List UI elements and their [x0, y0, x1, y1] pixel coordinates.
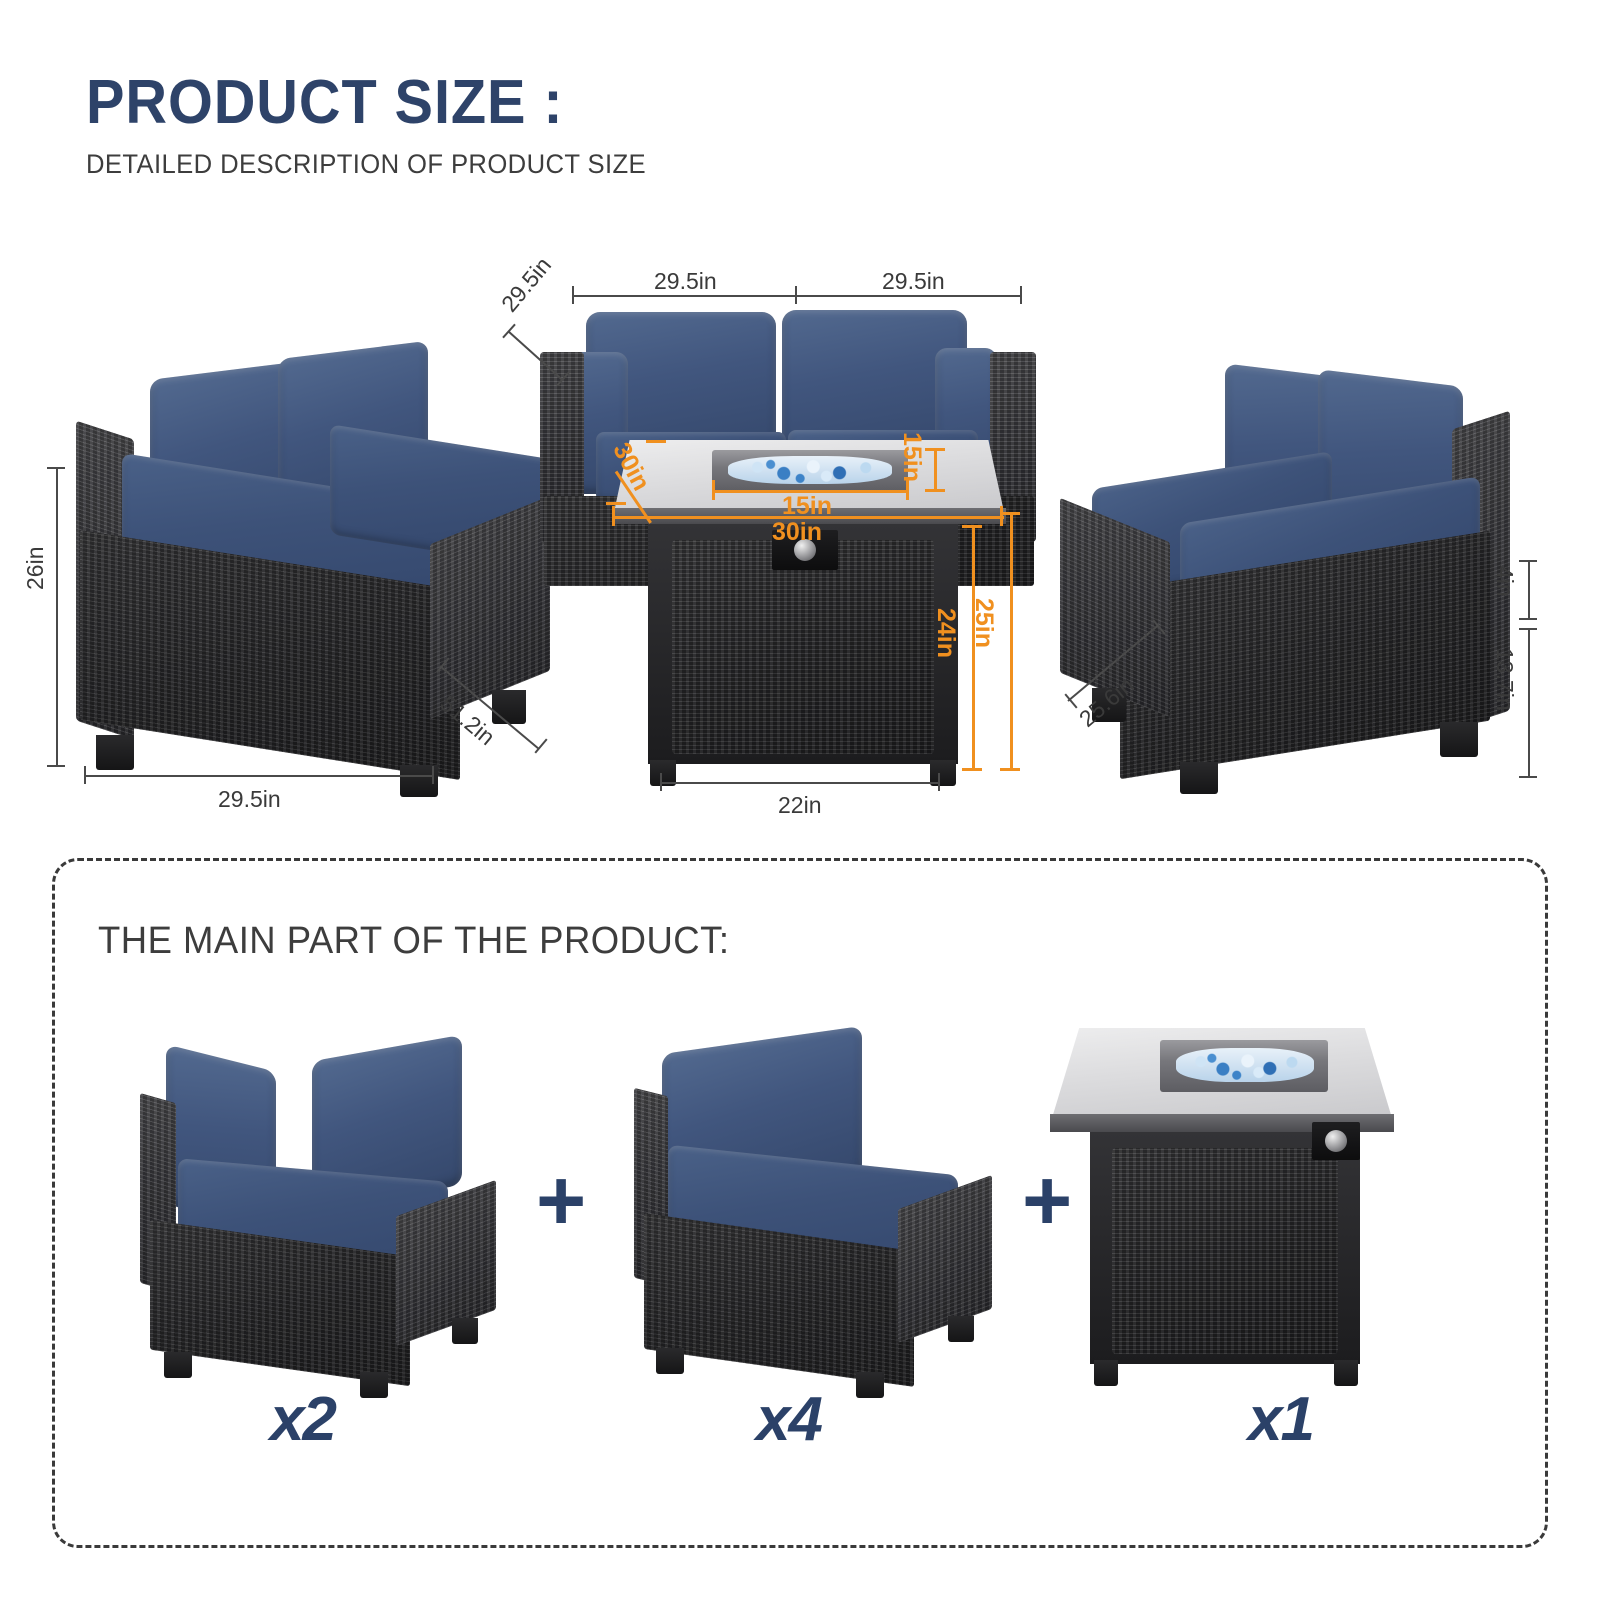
center-top-cap-m [795, 286, 797, 304]
tabletop-width-cap-r [1000, 506, 1003, 526]
product-size-infographic: PRODUCT SIZE : DETAILED DESCRIPTION OF P… [0, 0, 1600, 1600]
left-leg-3 [492, 690, 526, 724]
table-base-label: 22in [778, 792, 821, 819]
table-h-inner-cap-t [962, 525, 982, 528]
page-title: PRODUCT SIZE : [86, 70, 634, 135]
fire-table-qty: x1 [1248, 1384, 1313, 1455]
left-height-cap-bottom [47, 765, 65, 767]
center-width-left-label: 29.5in [654, 268, 717, 295]
right-frame-label: 13.7in [1491, 648, 1518, 711]
left-height-rule [56, 467, 58, 767]
plus-separator-1: + [536, 1158, 586, 1244]
center-width-right-label: 29.5in [882, 268, 945, 295]
firepit-depth-rule [934, 448, 937, 492]
right-cushion-label: 4in [1491, 566, 1518, 597]
left-leg-1 [96, 735, 134, 770]
center-top-cap-l [572, 286, 574, 304]
right-cushion-cap-b [1519, 618, 1537, 620]
part-table-leg-1 [1094, 1360, 1118, 1386]
firepit-depth-label: 15in [897, 432, 926, 482]
table-h-outer-cap-b [1000, 768, 1020, 771]
table-height-inner-label: 24in [931, 608, 960, 658]
page-subtitle: DETAILED DESCRIPTION OF PRODUCT SIZE [86, 149, 646, 180]
left-height-label: 26in [22, 547, 49, 590]
header: PRODUCT SIZE : DETAILED DESCRIPTION OF P… [86, 70, 675, 180]
center-top-cap-r [1020, 286, 1022, 304]
firepit-width-cap-l [712, 480, 715, 500]
part-table-knob[interactable] [1312, 1122, 1360, 1160]
right-frame-cap-t [1519, 628, 1537, 630]
firepit-depth-cap-t [925, 448, 945, 451]
table-base-cap-r [938, 773, 940, 791]
armless-leg-1 [656, 1348, 684, 1374]
right-frame-rule [1528, 628, 1530, 778]
table-height-outer-rule [1010, 512, 1013, 770]
firetable-wicker-panel [672, 540, 934, 754]
right-cushion-rule [1528, 560, 1530, 620]
plus-separator-2: + [1022, 1158, 1072, 1244]
right-frame-cap-b [1519, 776, 1537, 778]
left-width-label: 29.5in [218, 786, 281, 813]
tabletop-width-cap-l [612, 506, 615, 526]
table-h-inner-cap-b [962, 768, 982, 771]
left-width-cap-r [432, 766, 434, 784]
table-base-cap-l [660, 773, 662, 791]
firepit-width-cap-r [906, 480, 909, 500]
corner-leg-2 [360, 1372, 388, 1398]
firepit-depth-cap-b [925, 489, 945, 492]
right-leg-3 [1440, 722, 1478, 757]
armless-sofa-qty: x4 [756, 1384, 821, 1455]
part-table-wicker [1112, 1148, 1338, 1354]
corner-leg-3 [452, 1318, 478, 1344]
table-h-outer-cap-t [1000, 512, 1020, 515]
part-fire-glass-rocks [1176, 1048, 1314, 1082]
fire-glass-rocks [728, 456, 892, 484]
left-width-cap-l [84, 766, 86, 784]
part-table-leg-2 [1334, 1360, 1358, 1386]
corner-leg-1 [164, 1352, 192, 1378]
table-depth-cap-b [646, 440, 666, 443]
table-base-rule [660, 782, 940, 784]
corner-sofa-qty: x2 [270, 1384, 335, 1455]
right-cushion-cap-t [1519, 560, 1537, 562]
armless-leg-3 [948, 1316, 974, 1342]
main-parts-heading: THE MAIN PART OF THE PRODUCT: [98, 920, 729, 963]
center-depth-label: 29.5in [496, 252, 557, 317]
tabletop-width-label: 30in [772, 518, 822, 547]
left-height-cap-top [47, 467, 65, 469]
armless-leg-2 [856, 1372, 884, 1398]
table-depth-cap-a [606, 502, 626, 505]
right-leg-2 [1180, 762, 1218, 794]
left-width-rule [84, 775, 434, 777]
table-height-outer-label: 25in [969, 598, 998, 648]
center-top-rule [572, 295, 1022, 297]
